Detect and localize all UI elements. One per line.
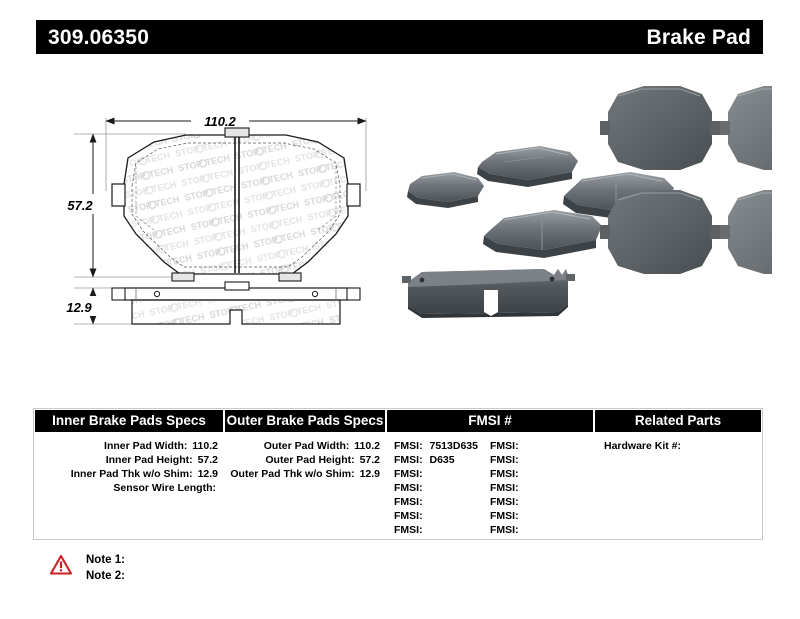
- inner-specs-body: Inner Pad Width: 110.2 Inner Pad Height:…: [34, 432, 224, 495]
- fmsi-label: FMSI:: [490, 510, 519, 522]
- spec-label: Inner Pad Height:: [106, 454, 193, 466]
- note-2: Note 2:: [86, 568, 125, 584]
- dimension-height-label: 57.2: [67, 198, 93, 213]
- fmsi-row: FMSI: D635: [394, 453, 490, 467]
- product-photos: [392, 66, 772, 356]
- fmsi-row: FMSI:: [490, 467, 586, 481]
- product-type-label: Brake Pad: [646, 27, 751, 48]
- spec-label: Sensor Wire Length:: [113, 482, 216, 494]
- fmsi-label: FMSI:: [394, 496, 423, 508]
- fmsi-column-right: FMSI: FMSI: FMSI: FMSI: FMSI:: [490, 439, 586, 537]
- notes-text-group: Note 1: Note 2:: [86, 552, 125, 584]
- warning-triangle-icon: [50, 554, 72, 576]
- photo-pad-flat-3: [600, 190, 720, 274]
- column-outer-specs: Outer Brake Pads Specs Outer Pad Width: …: [224, 409, 386, 539]
- dimension-thickness: 12.9: [58, 288, 100, 324]
- fmsi-value: [519, 524, 523, 536]
- related-parts-label: Hardware Kit #:: [604, 440, 681, 452]
- spec-value: 57.2: [358, 454, 380, 466]
- technical-drawing: STOP TECH STOP TECH: [36, 66, 396, 356]
- photo-pad-flat-2: [720, 86, 772, 170]
- spec-label: Outer Pad Height:: [265, 454, 354, 466]
- photo-pad-angled-2: [477, 146, 578, 187]
- column-header-fmsi: FMSI #: [387, 410, 593, 432]
- photo-pad-angled-1: [407, 172, 484, 208]
- fmsi-row: FMSI:: [490, 523, 586, 537]
- fmsi-label: FMSI:: [490, 496, 519, 508]
- spec-row: Inner Pad Width: 110.2: [34, 439, 224, 453]
- fmsi-row: FMSI:: [394, 495, 490, 509]
- spec-row: Outer Pad Thk w/o Shim: 12.9: [224, 467, 386, 481]
- fmsi-value: D635: [426, 454, 455, 466]
- spec-label: Inner Pad Width:: [104, 440, 187, 452]
- fmsi-row: FMSI:: [490, 509, 586, 523]
- column-related-parts: Related Parts Hardware Kit #:: [594, 409, 762, 539]
- spec-row: Inner Pad Height: 57.2: [34, 453, 224, 467]
- column-header-related-parts: Related Parts: [595, 410, 761, 432]
- outer-specs-body: Outer Pad Width: 110.2 Outer Pad Height:…: [224, 432, 386, 481]
- fmsi-row: FMSI:: [490, 439, 586, 453]
- spec-value: 12.9: [358, 468, 380, 480]
- fmsi-value: [423, 482, 427, 494]
- fmsi-value: [423, 524, 427, 536]
- photo-pad-edge-view: [402, 269, 575, 318]
- spec-label: Outer Pad Width:: [264, 440, 350, 452]
- spec-value: [216, 482, 218, 494]
- fmsi-label: FMSI:: [394, 510, 423, 522]
- spec-row: Outer Pad Width: 110.2: [224, 439, 386, 453]
- fmsi-value: [519, 510, 523, 522]
- fmsi-row: FMSI:: [394, 509, 490, 523]
- fmsi-row: FMSI:: [394, 481, 490, 495]
- fmsi-row: FMSI:: [394, 467, 490, 481]
- fmsi-value: [519, 482, 523, 494]
- fmsi-value: [423, 468, 427, 480]
- related-parts-row: Hardware Kit #:: [594, 439, 762, 453]
- spec-row: Inner Pad Thk w/o Shim: 12.9: [34, 467, 224, 481]
- fmsi-label: FMSI:: [394, 482, 423, 494]
- spec-row: Outer Pad Height: 57.2: [224, 453, 386, 467]
- dimension-thickness-label: 12.9: [66, 300, 92, 315]
- fmsi-value: [519, 496, 523, 508]
- fmsi-value: 7513D635: [426, 440, 478, 452]
- related-parts-body: Hardware Kit #:: [594, 432, 762, 453]
- notes-section: Note 1: Note 2:: [50, 552, 125, 584]
- spec-label: Outer Pad Thk w/o Shim:: [230, 468, 354, 480]
- column-header-outer-specs: Outer Brake Pads Specs: [225, 410, 385, 432]
- fmsi-label: FMSI:: [394, 468, 423, 480]
- note-1: Note 1:: [86, 552, 125, 568]
- fmsi-value: [519, 440, 523, 452]
- fmsi-row: FMSI: 7513D635: [394, 439, 490, 453]
- fmsi-label: FMSI:: [394, 524, 423, 536]
- fmsi-row: FMSI:: [490, 453, 586, 467]
- photo-pad-flat-1: [600, 86, 720, 170]
- fmsi-value: [519, 468, 523, 480]
- spec-value: 57.2: [196, 454, 218, 466]
- spec-value: 110.2: [190, 440, 218, 452]
- fmsi-value: [519, 454, 523, 466]
- part-number: 309.06350: [48, 27, 149, 48]
- fmsi-label: FMSI:: [490, 482, 519, 494]
- fmsi-value: [423, 510, 427, 522]
- fmsi-label: FMSI:: [490, 468, 519, 480]
- column-inner-specs: Inner Brake Pads Specs Inner Pad Width: …: [34, 409, 224, 539]
- dimension-height: 57.2: [60, 134, 100, 277]
- fmsi-label: FMSI:: [394, 440, 423, 452]
- pad-edge-view: [112, 282, 360, 324]
- fmsi-label: FMSI:: [490, 454, 519, 466]
- spec-value: 12.9: [196, 468, 218, 480]
- header-bar: 309.06350 Brake Pad: [36, 20, 763, 54]
- column-fmsi: FMSI # FMSI: 7513D635 FMSI: D635 FMSI: F…: [386, 409, 594, 539]
- fmsi-label: FMSI:: [490, 524, 519, 536]
- photo-pad-flat-4: [720, 190, 772, 274]
- photo-pad-angled-3: [483, 210, 602, 258]
- specifications-table: Inner Brake Pads Specs Inner Pad Width: …: [33, 408, 763, 540]
- spec-value: 110.2: [352, 440, 380, 452]
- fmsi-row: FMSI:: [490, 481, 586, 495]
- fmsi-value: [423, 496, 427, 508]
- fmsi-label: FMSI:: [490, 440, 519, 452]
- fmsi-label: FMSI:: [394, 454, 423, 466]
- fmsi-row: FMSI:: [490, 495, 586, 509]
- fmsi-body: FMSI: 7513D635 FMSI: D635 FMSI: FMSI: FM…: [386, 432, 594, 537]
- spec-label: Inner Pad Thk w/o Shim:: [71, 468, 193, 480]
- fmsi-row: FMSI:: [394, 523, 490, 537]
- column-header-inner-specs: Inner Brake Pads Specs: [35, 410, 223, 432]
- spec-row: Sensor Wire Length:: [34, 481, 224, 495]
- pad-face-view: [112, 128, 360, 281]
- dimension-width-label: 110.2: [204, 114, 236, 129]
- fmsi-column-left: FMSI: 7513D635 FMSI: D635 FMSI: FMSI: FM…: [394, 439, 490, 537]
